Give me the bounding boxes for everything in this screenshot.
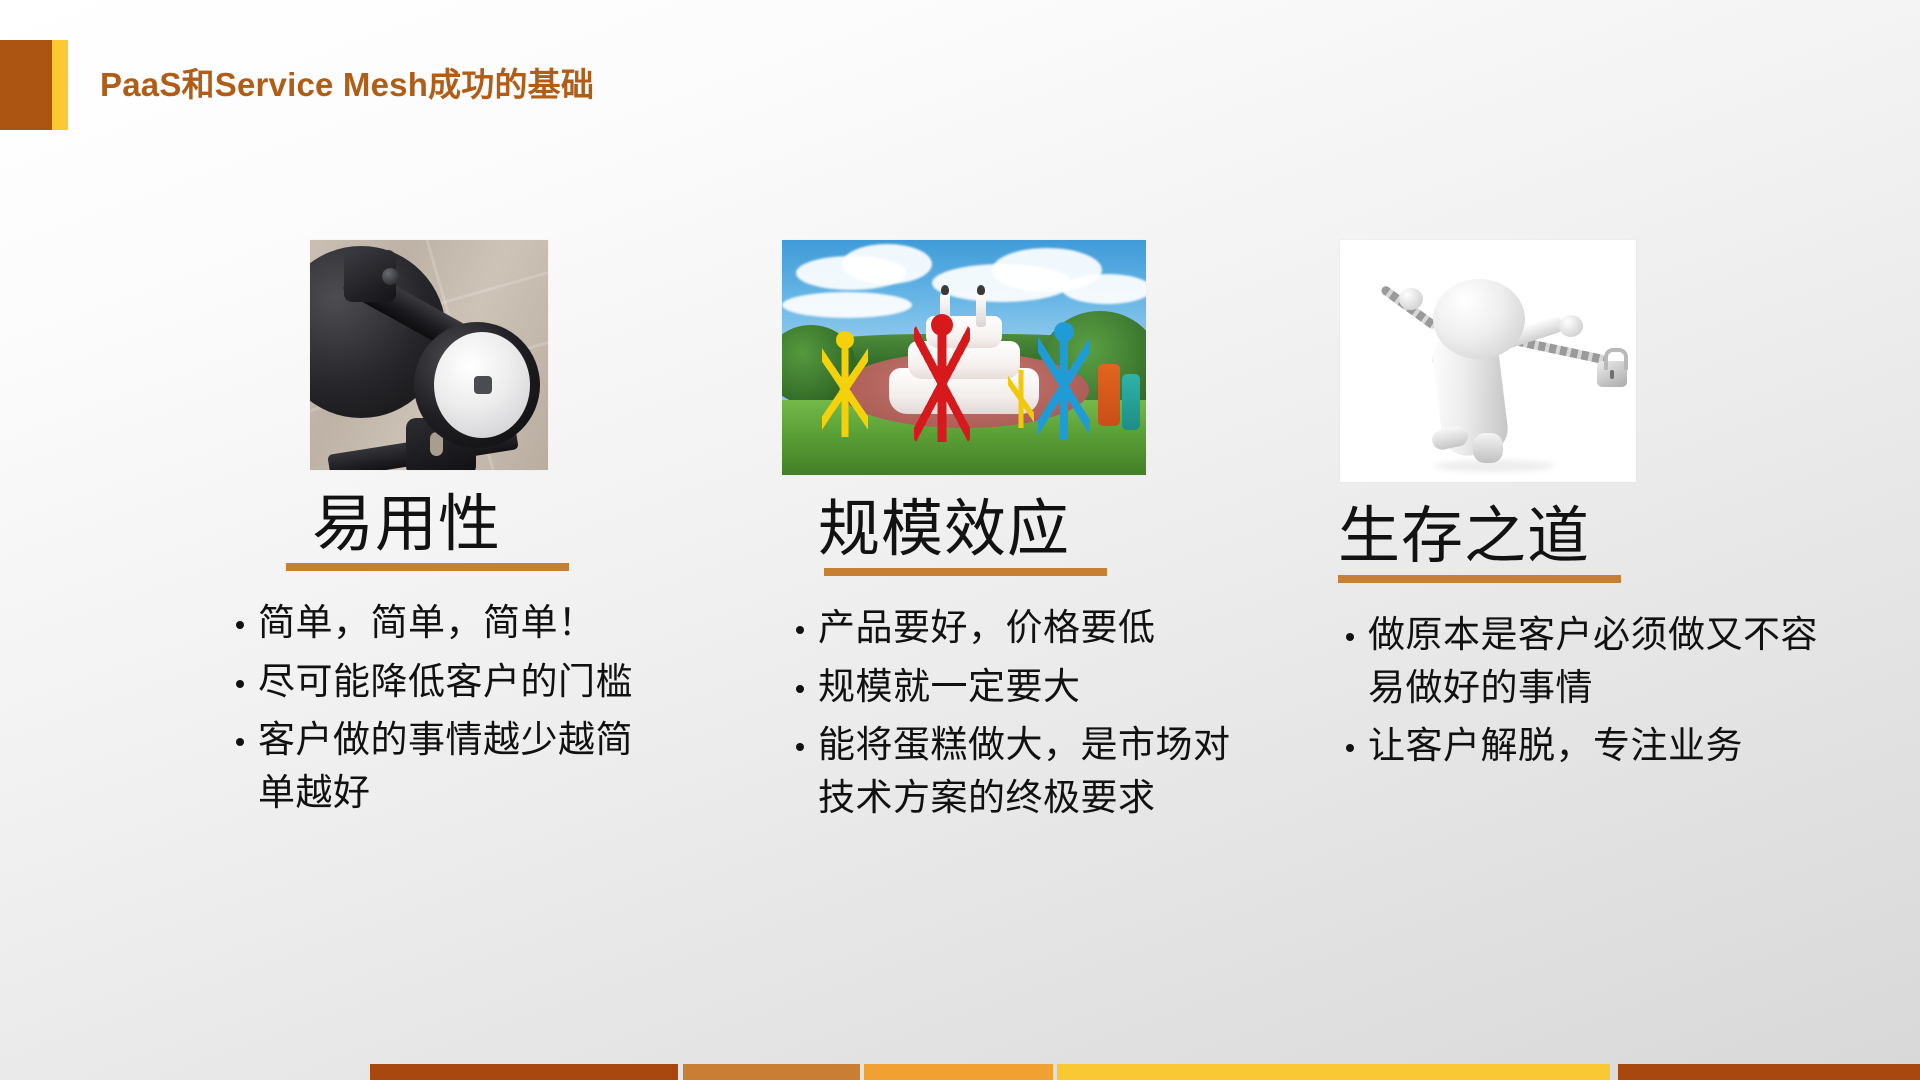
bolt-icon <box>382 268 399 285</box>
heading-underline <box>286 563 569 571</box>
breaking-chains-illustration <box>1340 240 1636 482</box>
training-wheel-photo <box>310 240 548 470</box>
list-item: 客户做的事情越少越简单越好 <box>228 714 648 819</box>
column-heading: 生存之道 <box>1338 504 1840 569</box>
figure-breaking-chains-photo <box>1340 240 1636 482</box>
red-figure-sculpture-icon <box>914 326 970 442</box>
candle-icon <box>976 293 986 327</box>
presentation-slide: PaaS和Service Mesh成功的基础 <box>0 0 1920 1080</box>
training-wheel-illustration <box>310 240 548 470</box>
list-item: 能将蛋糕做大，是市场对技术方案的终极要求 <box>788 719 1248 824</box>
figure-right-leg-icon <box>1473 433 1503 463</box>
list-item: 简单，简单，简单！ <box>228 597 648 650</box>
teal-figure-sculpture-icon <box>1122 374 1140 430</box>
blue-figure-sculpture-icon <box>1038 332 1090 440</box>
cake-sculpture-park-photo <box>782 240 1146 475</box>
figure-left-hand-icon <box>1399 288 1423 310</box>
yellow-figure-sculpture-icon <box>822 341 868 437</box>
title-accent-bar-yellow <box>52 40 68 130</box>
bullet-list: 产品要好，价格要低 规模就一定要大 能将蛋糕做大，是市场对技术方案的终极要求 <box>788 602 1248 824</box>
strip-segment <box>864 1064 1053 1080</box>
bullet-list: 做原本是客户必须做又不容易做好的事情 让客户解脱，专注业务 <box>1338 609 1838 773</box>
cloud-icon <box>842 244 932 284</box>
bullet-list: 简单，简单，简单！ 尽可能降低客户的门槛 客户做的事情越少越简单越好 <box>228 597 648 819</box>
strip-segment <box>1618 1064 1920 1080</box>
strip-segment <box>370 1064 678 1080</box>
list-item: 规模就一定要大 <box>788 661 1248 714</box>
list-item: 尽可能降低客户的门槛 <box>228 656 648 709</box>
figure-head-icon <box>1433 279 1525 359</box>
column-heading: 规模效应 <box>818 497 1230 562</box>
bottom-decorative-strip <box>0 1064 1920 1080</box>
list-item: 产品要好，价格要低 <box>788 602 1248 655</box>
park-scene-illustration <box>782 240 1146 475</box>
small-yellow-figure-icon <box>1008 370 1034 428</box>
column-usability: 易用性 简单，简单，简单！ 尽可能降低客户的门槛 客户做的事情越少越简单越好 <box>250 240 690 835</box>
strip-segment <box>683 1064 860 1080</box>
heading-underline <box>824 568 1107 576</box>
title-accent-bar-brown <box>0 40 52 130</box>
hub-nut-icon <box>474 376 492 394</box>
column-survival: 生存之道 做原本是客户必须做又不容易做好的事情 让客户解脱，专注业务 <box>1320 240 1840 789</box>
cloud-icon <box>782 292 912 318</box>
list-item: 让客户解脱，专注业务 <box>1338 720 1838 773</box>
column-scale-effect: 规模效应 产品要好，价格要低 规模就一定要大 能将蛋糕做大，是市场对技术方案的终… <box>760 240 1230 840</box>
content-columns: 易用性 简单，简单，简单！ 尽可能降低客户的门槛 客户做的事情越少越简单越好 <box>0 240 1920 940</box>
slide-title: PaaS和Service Mesh成功的基础 <box>100 58 594 106</box>
heading-underline <box>1338 575 1621 583</box>
list-item: 做原本是客户必须做又不容易做好的事情 <box>1338 609 1838 714</box>
column-heading: 易用性 <box>312 492 690 557</box>
figure-right-hand-icon <box>1559 315 1583 337</box>
orange-figure-sculpture-icon <box>1098 364 1120 426</box>
strip-segment <box>1057 1064 1610 1080</box>
cloud-icon <box>1062 274 1146 304</box>
padlock-icon <box>1597 361 1627 387</box>
